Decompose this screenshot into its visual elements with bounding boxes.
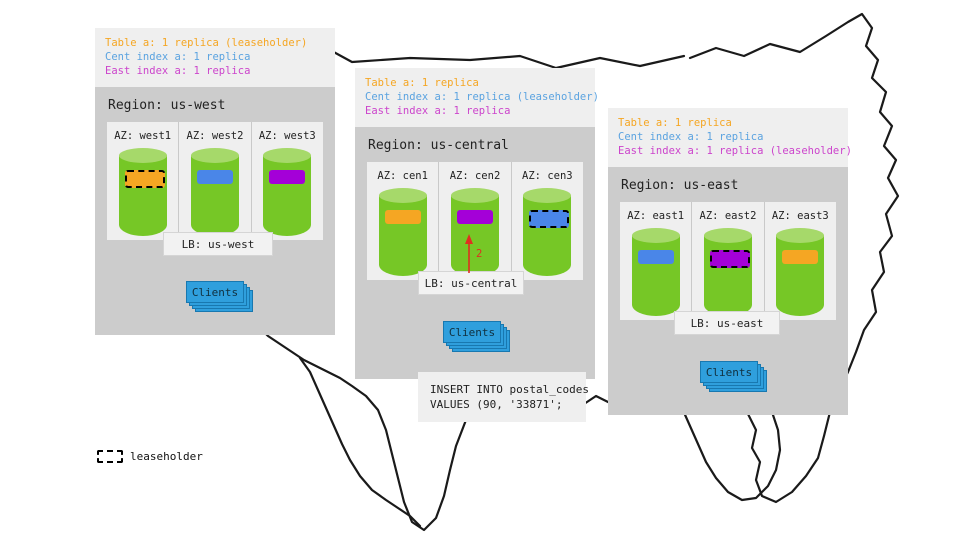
clients-stack-us-central[interactable]: Clients <box>443 321 511 353</box>
database-cylinder-icon <box>523 188 571 276</box>
clients-stack-us-east[interactable]: Clients <box>700 361 768 393</box>
database-cylinder-icon <box>632 228 680 316</box>
cylinder-body <box>119 155 167 236</box>
clients-button[interactable]: Clients <box>443 321 501 343</box>
replica-line-east: East index a: 1 replica <box>365 104 585 118</box>
replica-band-cent <box>197 170 233 184</box>
database-cylinder-icon <box>119 148 167 236</box>
region-title-us-east: Region: us-east <box>608 167 848 202</box>
cylinder-top <box>379 188 427 203</box>
az-label: AZ: cen3 <box>512 170 583 182</box>
cylinder-top <box>523 188 571 203</box>
az-label: AZ: cen2 <box>439 170 510 182</box>
az-west2[interactable]: AZ: west2 <box>178 122 250 240</box>
az-cen3[interactable]: AZ: cen3 <box>511 162 583 280</box>
cylinder-body <box>191 155 239 236</box>
legend-label: leaseholder <box>130 450 203 463</box>
az-west1[interactable]: AZ: west1 <box>107 122 178 240</box>
database-cylinder-icon <box>776 228 824 316</box>
load-balancer-us-east[interactable]: LB: us-east <box>674 311 780 335</box>
az-west3[interactable]: AZ: west3 <box>251 122 323 240</box>
replica-summary-us-east: Table a: 1 replicaCent index a: 1 replic… <box>608 108 848 167</box>
sql-line: VALUES (90, '33871'; <box>430 397 574 412</box>
az-east3[interactable]: AZ: east3 <box>764 202 836 320</box>
az-container-us-west: AZ: west1AZ: west2AZ: west3 <box>107 122 323 240</box>
az-east1[interactable]: AZ: east1 <box>620 202 691 320</box>
cylinder-top <box>119 148 167 163</box>
cylinder-top <box>776 228 824 243</box>
az-label: AZ: west1 <box>107 130 178 142</box>
cylinder-body <box>704 235 752 316</box>
sql-line: INSERT INTO postal_codes <box>430 382 574 397</box>
load-balancer-us-west[interactable]: LB: us-west <box>163 232 273 256</box>
replica-band-cent-leaseholder <box>529 210 569 228</box>
diagram-canvas: Table a: 1 replica (leaseholder)Cent ind… <box>0 0 960 540</box>
replica-band-table <box>782 250 818 264</box>
cylinder-body <box>632 235 680 316</box>
region-title-us-central: Region: us-central <box>355 127 595 162</box>
az-east2[interactable]: AZ: east2 <box>691 202 763 320</box>
replica-band-cent <box>638 250 674 264</box>
clients-button[interactable]: Clients <box>700 361 758 383</box>
az-label: AZ: west3 <box>252 130 323 142</box>
cylinder-top <box>451 188 499 203</box>
cylinder-body <box>379 195 427 276</box>
load-balancer-us-central[interactable]: LB: us-central <box>418 271 524 295</box>
replica-line-east: East index a: 1 replica (leaseholder) <box>618 144 838 158</box>
replica-band-east-leaseholder <box>710 250 750 268</box>
clients-stack-us-west[interactable]: Clients <box>186 281 254 313</box>
replica-line-cent: Cent index a: 1 replica (leaseholder) <box>365 90 585 104</box>
az-label: AZ: east2 <box>692 210 763 222</box>
replica-band-east <box>457 210 493 224</box>
az-label: AZ: west2 <box>179 130 250 142</box>
cylinder-body <box>523 195 571 276</box>
database-cylinder-icon <box>263 148 311 236</box>
cylinder-body <box>263 155 311 236</box>
az-label: AZ: east1 <box>620 210 691 222</box>
cylinder-top <box>191 148 239 163</box>
replica-summary-us-central: Table a: 1 replicaCent index a: 1 replic… <box>355 68 595 127</box>
cylinder-top <box>632 228 680 243</box>
dashed-rect-icon <box>97 450 123 463</box>
cylinder-top <box>704 228 752 243</box>
replica-line-table: Table a: 1 replica <box>365 76 585 90</box>
region-title-us-west: Region: us-west <box>95 87 335 122</box>
arrow-step-number: 2 <box>476 248 482 260</box>
clients-button[interactable]: Clients <box>186 281 244 303</box>
replica-line-table: Table a: 1 replica (leaseholder) <box>105 36 325 50</box>
replica-line-cent: Cent index a: 1 replica <box>105 50 325 64</box>
replica-band-east <box>269 170 305 184</box>
az-cen1[interactable]: AZ: cen1 <box>367 162 438 280</box>
cylinder-body <box>776 235 824 316</box>
database-cylinder-icon <box>379 188 427 276</box>
az-label: AZ: cen1 <box>367 170 438 182</box>
replica-line-table: Table a: 1 replica <box>618 116 838 130</box>
replica-line-east: East index a: 1 replica <box>105 64 325 78</box>
replica-line-cent: Cent index a: 1 replica <box>618 130 838 144</box>
database-cylinder-icon <box>191 148 239 236</box>
sql-statement-note: INSERT INTO postal_codesVALUES (90, '338… <box>418 372 586 422</box>
replica-summary-us-west: Table a: 1 replica (leaseholder)Cent ind… <box>95 28 335 87</box>
request-arrow <box>460 232 490 274</box>
database-cylinder-icon <box>704 228 752 316</box>
az-container-us-east: AZ: east1AZ: east2AZ: east3 <box>620 202 836 320</box>
replica-band-table <box>385 210 421 224</box>
cylinder-top <box>263 148 311 163</box>
legend-leaseholder: leaseholder <box>97 450 203 463</box>
az-label: AZ: east3 <box>765 210 836 222</box>
replica-band-table-leaseholder <box>125 170 165 188</box>
